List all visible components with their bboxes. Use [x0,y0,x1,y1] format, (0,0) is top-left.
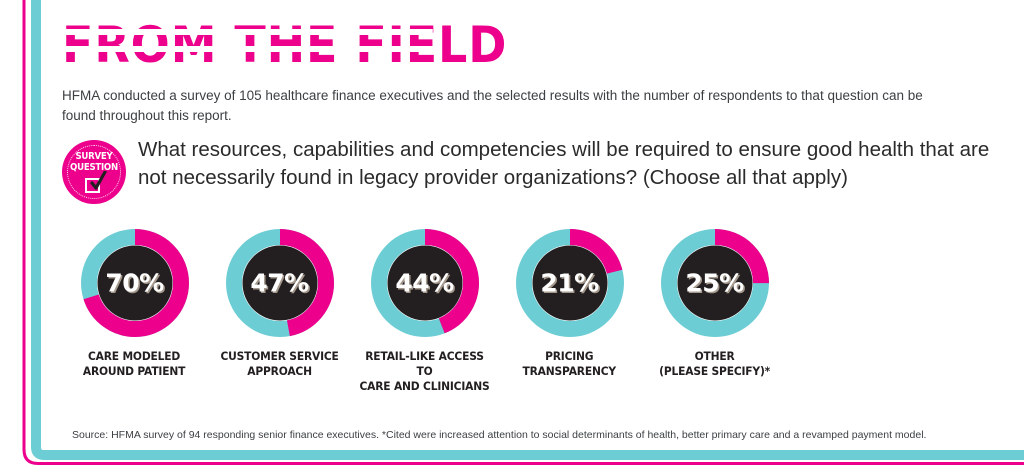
donut-item: 25%OTHER(PLEASE SPECIFY)* [642,228,787,394]
donut-category-label-line1: CARE MODELED [83,349,185,364]
intro-paragraph: HFMA conducted a survey of 105 healthcar… [62,86,942,126]
donut-chart-row: 70%CARE MODELEDAROUND PATIENT47%CUSTOMER… [62,228,962,394]
donut-chart: 70% [80,228,190,338]
donut-category-label-line1: CUSTOMER SERVICE [220,349,338,364]
donut-category-label-line1: PRICING [523,349,616,364]
survey-question-badge: SURVEY QUESTION [62,140,126,204]
header-block: FROM THE FIELD HFMA conducted a survey o… [62,18,962,126]
donut-category-label: CUSTOMER SERVICEAPPROACH [220,349,338,379]
donut-value-label: 25% [660,269,770,298]
badge-label-line1: SURVEY [75,151,112,162]
donut-category-label-line1: RETAIL-LIKE ACCESS TO [357,349,492,379]
donut-category-label: RETAIL-LIKE ACCESS TOCARE AND CLINICIANS [357,349,492,394]
donut-category-label-line2: CARE AND CLINICIANS [357,379,492,394]
donut-category-label: CARE MODELEDAROUND PATIENT [83,349,185,379]
survey-question-text: What resources, capabilities and compete… [138,136,1002,192]
donut-category-label-line2: TRANSPARENCY [523,364,616,379]
donut-item: 47%CUSTOMER SERVICEAPPROACH [207,228,352,394]
donut-item: 21%PRICINGTRANSPARENCY [497,228,642,394]
donut-value-label: 44% [370,269,480,298]
donut-chart: 25% [660,228,770,338]
donut-chart: 21% [515,228,625,338]
infographic-page: FROM THE FIELD HFMA conducted a survey o… [0,0,1024,475]
donut-item: 44%RETAIL-LIKE ACCESS TOCARE AND CLINICI… [352,228,497,394]
page-title: FROM THE FIELD [62,18,890,72]
donut-chart: 47% [225,228,335,338]
donut-category-label-line2: (PLEASE SPECIFY)* [659,364,770,379]
donut-chart: 44% [370,228,480,338]
source-note: Source: HFMA survey of 94 responding sen… [72,428,1012,443]
donut-value-label: 21% [515,269,625,298]
donut-value-label: 47% [225,269,335,298]
badge-label: SURVEY QUESTION [66,152,121,173]
donut-category-label-line1: OTHER [659,349,770,364]
donut-value-label: 70% [80,269,190,298]
donut-category-label: OTHER(PLEASE SPECIFY)* [659,349,770,379]
checkmark-icon [89,171,107,191]
donut-category-label: PRICINGTRANSPARENCY [523,349,616,379]
survey-question-row: SURVEY QUESTION What resources, capabili… [62,136,1002,204]
donut-item: 70%CARE MODELEDAROUND PATIENT [62,228,207,394]
donut-category-label-line2: APPROACH [220,364,338,379]
donut-category-label-line2: AROUND PATIENT [83,364,185,379]
